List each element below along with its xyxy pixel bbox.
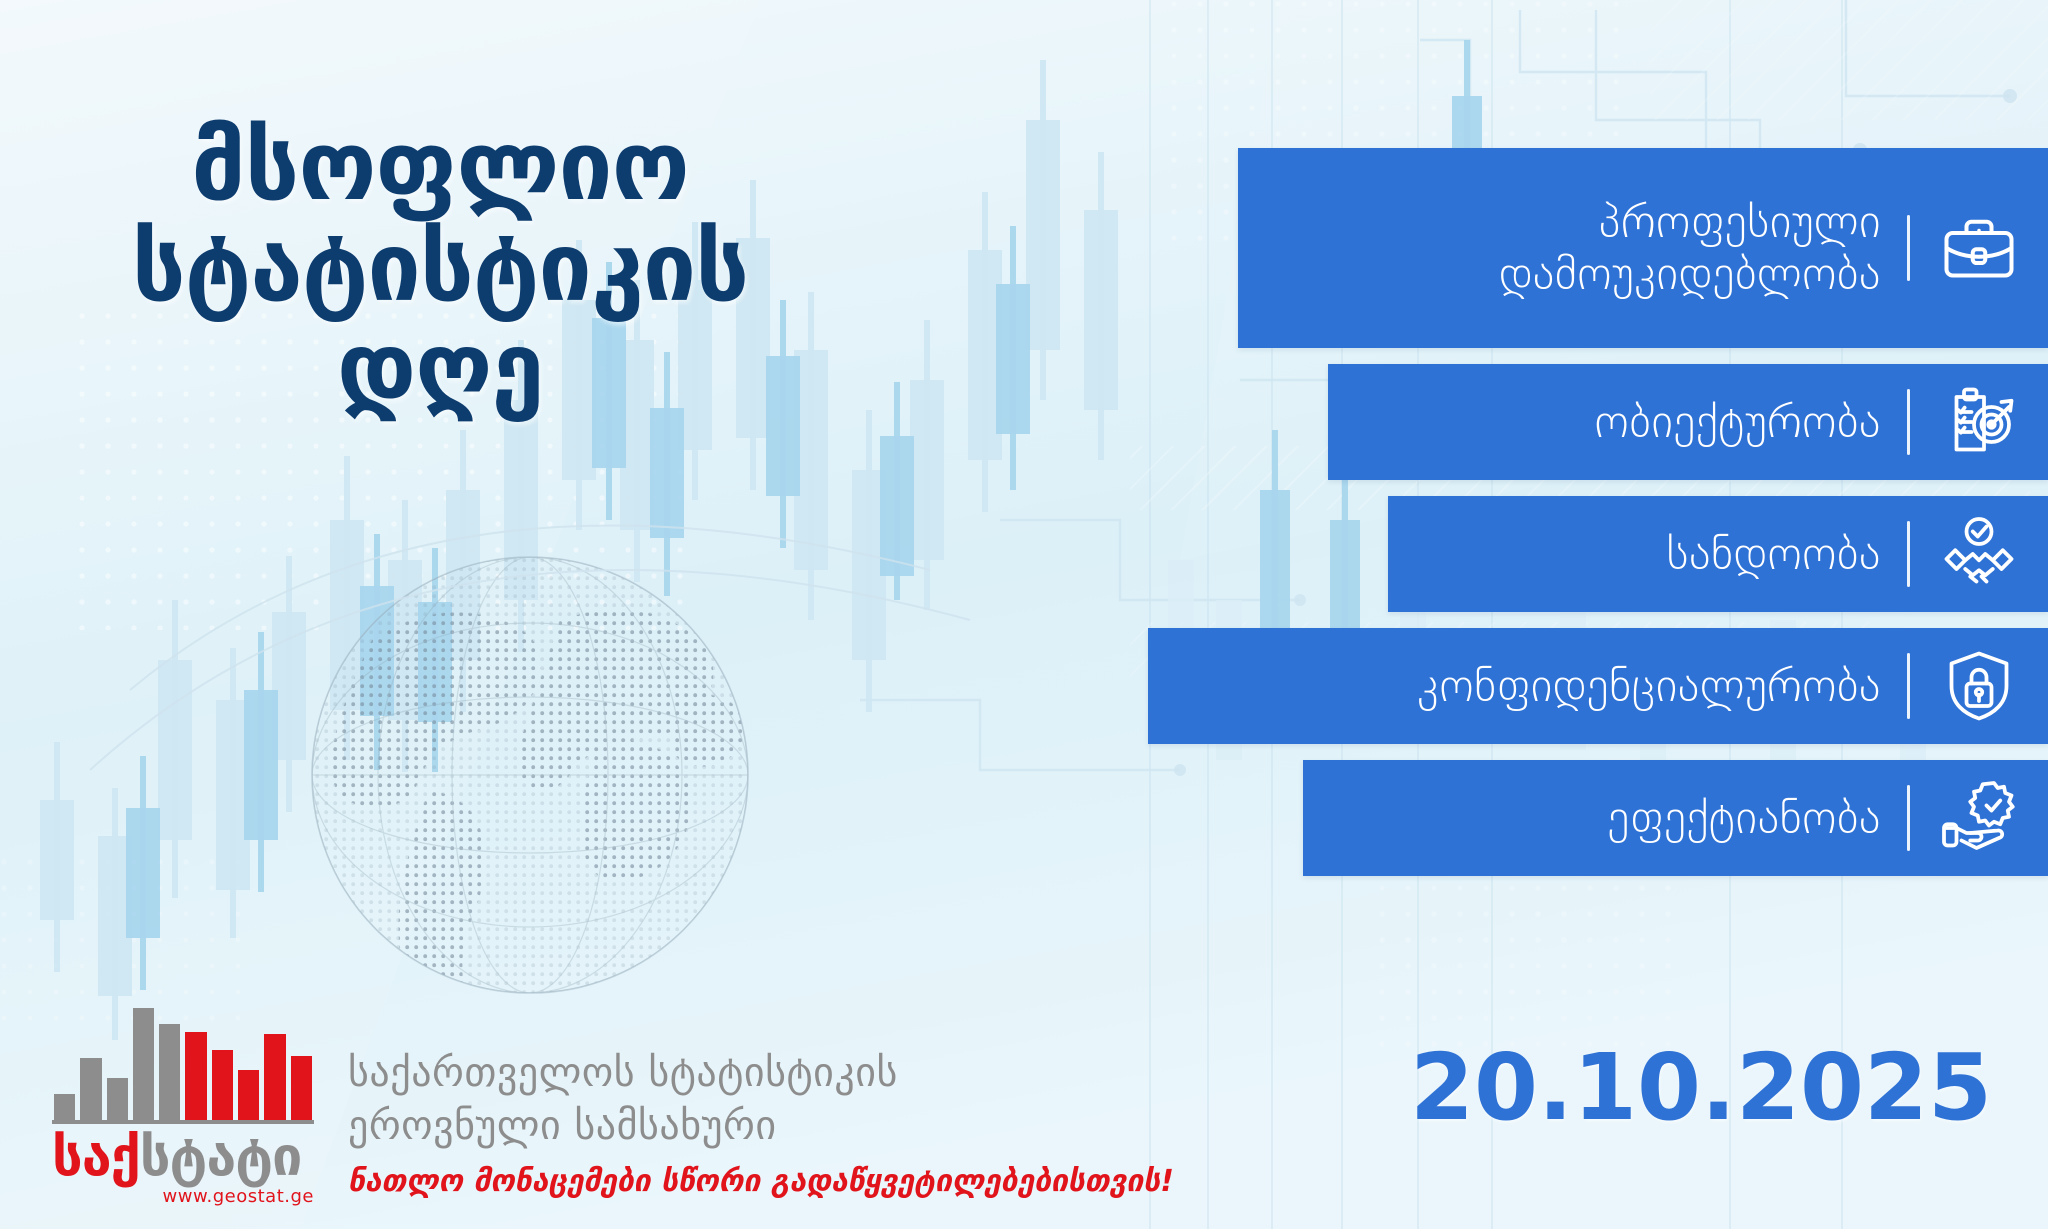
clipboard-target-icon bbox=[1936, 379, 2022, 465]
page-title: მსოფლიო სტატისტიკის დღე bbox=[0, 116, 880, 419]
logo-bar-chart bbox=[52, 1004, 314, 1124]
value-bar-confidentiality: კონფიდენციალურობა bbox=[1148, 628, 2048, 744]
divider bbox=[1907, 389, 1910, 455]
logo-bar bbox=[54, 1094, 75, 1120]
hand-gear-check-icon bbox=[1936, 775, 2022, 861]
handshake-check-icon bbox=[1936, 511, 2022, 597]
value-label: კონფიდენციალურობა bbox=[1417, 660, 1881, 712]
logo-bar bbox=[185, 1032, 206, 1120]
value-bar-reliability: სანდოობა bbox=[1388, 496, 2048, 612]
shield-lock-icon bbox=[1936, 643, 2022, 729]
divider bbox=[1907, 785, 1910, 851]
logo-bar bbox=[133, 1008, 154, 1120]
divider bbox=[1907, 653, 1910, 719]
value-label: ეფექტიანობა bbox=[1607, 792, 1881, 844]
logo-wordmark-red: საქ bbox=[52, 1125, 140, 1188]
title-line-1: მსოფლიო bbox=[0, 116, 880, 218]
logo-bar bbox=[212, 1050, 233, 1120]
value-bar-effectiveness: ეფექტიანობა bbox=[1303, 760, 2048, 876]
value-bar-objectivity: ობიექტურობა bbox=[1328, 364, 2048, 480]
divider bbox=[1907, 215, 1910, 281]
logo-bar bbox=[291, 1056, 312, 1120]
logo-wordmark-grey: სტატი bbox=[140, 1125, 302, 1188]
value-label: ობიექტურობა bbox=[1595, 396, 1881, 448]
event-date: 20.10.2025 bbox=[1410, 1034, 1992, 1141]
footer-branding: საქსტატი www.geostat.ge საქართველოს სტატ… bbox=[52, 1004, 1174, 1207]
organization-name-block: საქართველოს სტატისტიკის ეროვნული სამსახუ… bbox=[348, 1047, 1174, 1207]
value-label: პროფესიული დამოუკიდებლობა bbox=[1272, 196, 1881, 299]
logo-bar bbox=[238, 1070, 259, 1120]
briefcase-icon bbox=[1936, 205, 2022, 291]
logo-bar bbox=[107, 1078, 128, 1120]
logo-website-url[interactable]: www.geostat.ge bbox=[52, 1186, 314, 1207]
core-values-list: პროფესიული დამოუკიდებლობა ობიექტურობა bbox=[968, 148, 2048, 892]
organization-tagline: ნათლო მონაცემები სწორი გადაწყვეტილებების… bbox=[348, 1164, 1174, 1199]
logo-bar bbox=[264, 1034, 285, 1120]
value-bar-professional-independence: პროფესიული დამოუკიდებლობა bbox=[1238, 148, 2048, 348]
value-label: სანდოობა bbox=[1666, 528, 1881, 580]
logo-wordmark: საქსტატი bbox=[52, 1130, 314, 1184]
divider bbox=[1907, 521, 1910, 587]
logo-bar bbox=[159, 1024, 180, 1120]
geostat-logo[interactable]: საქსტატი www.geostat.ge bbox=[52, 1004, 314, 1207]
organization-line-1: საქართველოს სტატისტიკის bbox=[348, 1047, 1174, 1101]
banner-canvas: მსოფლიო სტატისტიკის დღე პროფესიული დამოუ… bbox=[0, 0, 2048, 1229]
logo-bar bbox=[80, 1058, 101, 1120]
title-line-2: სტატისტიკის bbox=[0, 218, 880, 319]
organization-line-2: ეროვნული სამსახური bbox=[348, 1100, 1174, 1154]
title-line-3: დღე bbox=[0, 318, 880, 419]
